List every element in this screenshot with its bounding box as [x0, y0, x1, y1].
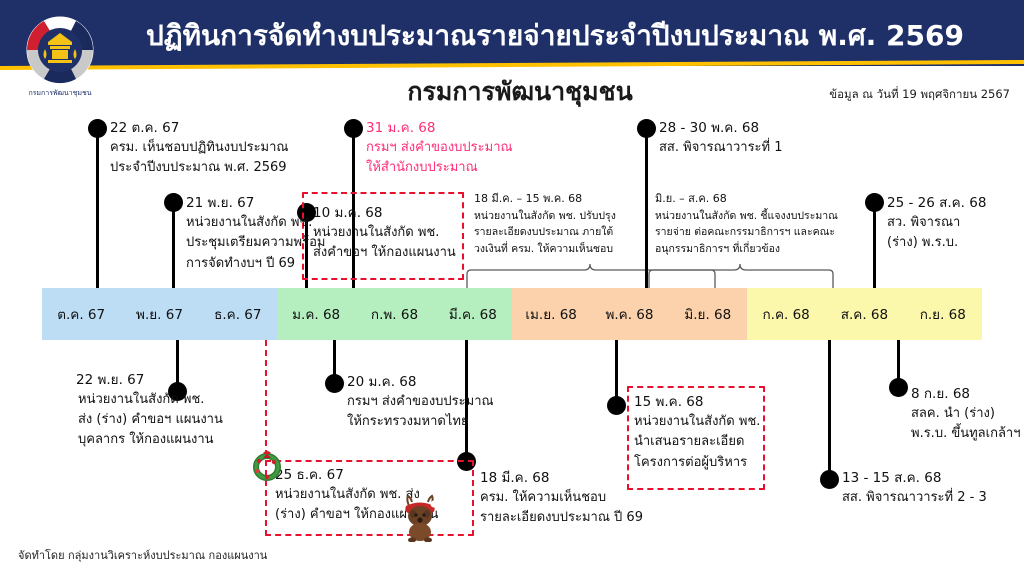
- callout-e6-line-0: สว. พิจารณา: [887, 213, 986, 233]
- callout-s2-date: มิ.ย. – ส.ค. 68: [655, 191, 838, 208]
- month-cell-10[interactable]: ส.ค. 68: [825, 288, 903, 340]
- callout-e2-line-2: การจัดทำงบฯ ปี 69: [186, 254, 325, 274]
- callout-b4-line-0: ครม. ให้ความเห็นชอบ: [480, 488, 643, 508]
- callout-b4-line-1: รายละเอียดงบประมาณ ปี 69: [480, 508, 643, 528]
- callout-e1-line-1: ประจำปีงบประมาณ พ.ศ. 2569: [110, 158, 288, 178]
- callout-s2-line-1: รายจ่าย ต่อคณะกรรมาธิการฯ และคณะ: [655, 224, 838, 241]
- callout-b1-date: 22 พ.ย. 67: [76, 370, 172, 390]
- callout-b2-date: 25 ธ.ค. 67: [275, 465, 438, 485]
- callout-s2-line-0: หน่วยงานในสังกัด พช. ชี้แจงงบประมาณ: [655, 208, 838, 225]
- callout-b7-date: 8 ก.ย. 68: [911, 384, 1021, 404]
- month-cell-9[interactable]: ก.ค. 68: [747, 288, 825, 340]
- callout-e3-line-0: หน่วยงานในสังกัด พช.: [313, 223, 456, 243]
- callout-e1-line-0: ครม. เห็นชอบปฏิทินงบประมาณ: [110, 138, 288, 158]
- callout-e5: 28 - 30 พ.ค. 68 สส. พิจารณาวาระที่ 1: [659, 118, 783, 158]
- svg-text:กรมการพัฒนาชุมชน: กรมการพัฒนาชุมชน: [28, 89, 91, 97]
- callout-e2-line-0: หน่วยงานในสังกัด พช.: [186, 213, 325, 233]
- cdd-department-seal-icon: กรมการพัฒนาชุมชน: [14, 8, 106, 100]
- christmas-wreath-icon: [250, 448, 284, 486]
- callout-e2: 21 พ.ย. 67 หน่วยงานในสังกัด พช. ประชุมเต…: [186, 193, 325, 274]
- callout-e6-date: 25 - 26 ส.ค. 68: [887, 193, 986, 213]
- timeline-month-bar: ต.ค. 67 พ.ย. 67 ธ.ค. 67 ม.ค. 68 ก.พ. 68 …: [42, 288, 982, 340]
- callout-s2: มิ.ย. – ส.ค. 68 หน่วยงานในสังกัด พช. ชี้…: [655, 191, 838, 258]
- month-cell-11[interactable]: ก.ย. 68: [904, 288, 982, 340]
- callout-b1-line-2: บุคลากร ให้กองแผนงาน: [78, 430, 223, 450]
- month-cell-5[interactable]: มี.ค. 68: [434, 288, 512, 340]
- month-cell-4[interactable]: ก.พ. 68: [355, 288, 433, 340]
- month-cell-2[interactable]: ธ.ค. 67: [199, 288, 277, 340]
- callout-e1-date: 22 ต.ค. 67: [110, 118, 288, 138]
- callout-e4-date: 31 ม.ค. 68: [366, 118, 513, 138]
- callout-e5-date: 28 - 30 พ.ค. 68: [659, 118, 783, 138]
- month-cell-3[interactable]: ม.ค. 68: [277, 288, 355, 340]
- callout-e5-line-0: สส. พิจารณาวาระที่ 1: [659, 138, 783, 158]
- callout-e3-line-1: ส่งคำขอฯ ให้กองแผนงาน: [313, 243, 456, 263]
- infographic-canvas: ปฏิทินการจัดทำงบประมาณรายจ่ายประจำปีงบปร…: [0, 0, 1024, 576]
- callout-s1-line-1: รายละเอียดงบประมาณ ภายใต้: [474, 224, 616, 241]
- callout-s2-line-2: อนุกรรมาธิการฯ ที่เกี่ยวข้อง: [655, 241, 838, 258]
- callout-s1-date: 18 มี.ค. – 15 พ.ค. 68: [474, 191, 616, 208]
- callout-b7-line-0: สลค. นำ (ร่าง): [911, 404, 1021, 424]
- callout-e4-line-1: ให้สำนักงบประมาณ: [366, 158, 513, 178]
- month-cell-7[interactable]: พ.ค. 68: [590, 288, 668, 340]
- callout-b3-line-1: ให้กระทรวงมหาดไทย: [347, 412, 494, 432]
- callout-b4: 18 มี.ค. 68 ครม. ให้ความเห็นชอบ รายละเอี…: [480, 468, 643, 529]
- callout-e2-line-1: ประชุมเตรียมความพร้อม: [186, 233, 325, 253]
- callout-b5-date: 15 พ.ค. 68: [634, 392, 760, 412]
- callout-e6-line-1: (ร่าง) พ.ร.บ.: [887, 233, 986, 253]
- callout-s1: 18 มี.ค. – 15 พ.ค. 68 หน่วยงานในสังกัด พ…: [474, 191, 616, 258]
- callout-b7: 8 ก.ย. 68 สลค. นำ (ร่าง) พ.ร.บ. ขึ้นทูลเ…: [911, 384, 1021, 445]
- callout-b4-date: 18 มี.ค. 68: [480, 468, 643, 488]
- callout-e2-date: 21 พ.ย. 67: [186, 193, 325, 213]
- page-title: ปฏิทินการจัดทำงบประมาณรายจ่ายประจำปีงบปร…: [110, 14, 1000, 58]
- footer-credit: จัดทำโดย กลุ่มงานวิเคราะห์งบประมาณ กองแผ…: [18, 546, 267, 564]
- callout-e3: 10 ม.ค. 68 หน่วยงานในสังกัด พช. ส่งคำขอฯ…: [313, 203, 456, 264]
- christmas-reindeer-icon: [400, 490, 442, 546]
- callout-b6: 13 - 15 ส.ค. 68 สส. พิจารณาวาระที่ 2 - 3: [842, 468, 987, 508]
- month-cell-6[interactable]: เม.ย. 68: [512, 288, 590, 340]
- callout-b1-body: หน่วยงานในสังกัด พช. ส่ง (ร่าง) คำขอฯ แผ…: [78, 390, 223, 450]
- callout-b6-date: 13 - 15 ส.ค. 68: [842, 468, 987, 488]
- month-cell-0[interactable]: ต.ค. 67: [42, 288, 120, 340]
- callout-b3: 20 ม.ค. 68 กรมฯ ส่งคำของบประมาณ ให้กระทร…: [347, 372, 494, 433]
- callout-e4-line-0: กรมฯ ส่งคำของบประมาณ: [366, 138, 513, 158]
- callout-e1: 22 ต.ค. 67 ครม. เห็นชอบปฏิทินงบประมาณ ปร…: [110, 118, 288, 179]
- as-of-date: ข้อมูล ณ วันที่ 19 พฤศจิกายน 2567: [829, 86, 1010, 104]
- callout-b1: 22 พ.ย. 67: [76, 370, 172, 390]
- callout-e6: 25 - 26 ส.ค. 68 สว. พิจารณา (ร่าง) พ.ร.บ…: [887, 193, 986, 254]
- callout-b1-line-1: ส่ง (ร่าง) คำขอฯ แผนงาน: [78, 410, 223, 430]
- callout-e4: 31 ม.ค. 68 กรมฯ ส่งคำของบประมาณ ให้สำนัก…: [366, 118, 513, 179]
- callout-b7-line-1: พ.ร.บ. ขึ้นทูลเกล้าฯ: [911, 424, 1021, 444]
- callout-b3-date: 20 ม.ค. 68: [347, 372, 494, 392]
- month-cell-8[interactable]: มิ.ย. 68: [669, 288, 747, 340]
- page-subtitle: กรมการพัฒนาชุมชน: [110, 72, 930, 112]
- callout-e3-date: 10 ม.ค. 68: [313, 203, 456, 223]
- callout-b5-line-1: นำเสนอรายละเอียด: [634, 432, 760, 452]
- callout-s1-line-0: หน่วยงานในสังกัด พช. ปรับปรุง: [474, 208, 616, 225]
- callout-b1-line-0: หน่วยงานในสังกัด พช.: [78, 390, 223, 410]
- callout-b6-line-0: สส. พิจารณาวาระที่ 2 - 3: [842, 488, 987, 508]
- callout-b5-line-2: โครงการต่อผู้บริหาร: [634, 453, 760, 473]
- callout-b3-line-0: กรมฯ ส่งคำของบประมาณ: [347, 392, 494, 412]
- callout-b5-line-0: หน่วยงานในสังกัด พช.: [634, 412, 760, 432]
- month-cell-1[interactable]: พ.ย. 67: [120, 288, 198, 340]
- callout-s1-line-2: วงเงินที่ ครม. ให้ความเห็นชอบ: [474, 241, 616, 258]
- callout-b5: 15 พ.ค. 68 หน่วยงานในสังกัด พช. นำเสนอรา…: [634, 392, 760, 473]
